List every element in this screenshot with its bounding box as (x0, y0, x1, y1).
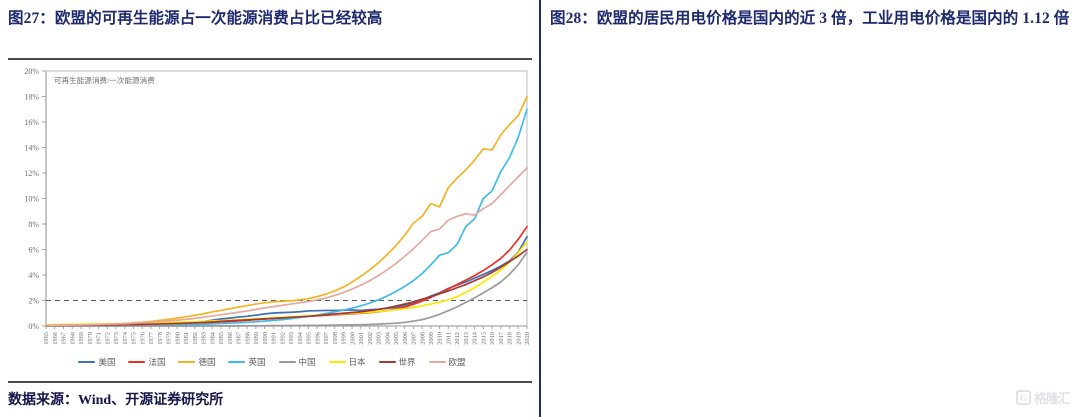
watermark-logo-icon: G (1016, 390, 1031, 405)
svg-text:2019: 2019 (515, 332, 522, 345)
svg-text:4%: 4% (28, 271, 39, 280)
svg-text:1987: 1987 (236, 331, 243, 345)
legend-label: 德国 (198, 356, 215, 368)
legend-label: 美国 (98, 356, 115, 368)
right-figure-title: 图28：欧盟的居民用电价格是国内的近 3 倍，工业用电价格是国内的 1.12 倍 (550, 6, 1072, 31)
svg-text:2%: 2% (28, 297, 39, 306)
svg-text:14%: 14% (24, 144, 39, 153)
svg-text:0%: 0% (28, 322, 39, 331)
legend-label: 欧盟 (449, 356, 466, 368)
svg-text:2015: 2015 (480, 332, 487, 345)
legend-item[interactable]: 世界 (379, 356, 416, 368)
legend-swatch-icon (429, 361, 446, 364)
svg-text:6%: 6% (28, 246, 39, 255)
legend-item[interactable]: 英国 (228, 356, 265, 368)
left-figure-panel: 图27：欧盟的可再生能源占一次能源消费占比已经较高 数据来源：Wind、开源证券… (0, 0, 540, 417)
svg-text:2000: 2000 (349, 332, 356, 345)
svg-text:2018: 2018 (507, 332, 514, 345)
svg-text:1998: 1998 (332, 332, 339, 345)
svg-text:1993: 1993 (288, 332, 295, 345)
svg-text:1997: 1997 (323, 331, 330, 345)
figure-page: 图27：欧盟的可再生能源占一次能源消费占比已经较高 数据来源：Wind、开源证券… (0, 0, 1080, 417)
left-source-note: 数据来源：Wind、开源证券研究所 (8, 389, 223, 409)
watermark: G 格隆汇 (1016, 388, 1070, 407)
svg-text:2005: 2005 (393, 332, 400, 345)
svg-text:2011: 2011 (445, 332, 452, 345)
legend-swatch-icon (178, 361, 195, 364)
legend-swatch-icon (128, 361, 145, 364)
svg-text:16%: 16% (24, 118, 39, 127)
svg-text:可再生能源消费/一次能源消费: 可再生能源消费/一次能源消费 (54, 75, 155, 85)
svg-text:2002: 2002 (367, 332, 374, 345)
svg-text:1980: 1980 (174, 332, 181, 345)
svg-text:12%: 12% (24, 169, 39, 178)
svg-text:2008: 2008 (419, 332, 426, 345)
svg-text:1991: 1991 (271, 332, 278, 345)
svg-text:1994: 1994 (297, 331, 304, 345)
svg-text:18%: 18% (24, 93, 39, 102)
svg-text:1999: 1999 (341, 332, 348, 345)
svg-text:1983: 1983 (201, 332, 208, 345)
left-top-rule (8, 58, 532, 60)
svg-text:2001: 2001 (358, 332, 365, 345)
legend-item[interactable]: 美国 (78, 356, 115, 368)
svg-text:1982: 1982 (192, 332, 199, 345)
svg-text:2003: 2003 (376, 332, 383, 345)
legend-swatch-icon (78, 361, 95, 364)
legend-item[interactable]: 德国 (178, 356, 215, 368)
svg-text:1974: 1974 (122, 331, 129, 345)
svg-text:1970: 1970 (87, 332, 94, 345)
svg-text:1996: 1996 (314, 332, 321, 345)
svg-text:2007: 2007 (411, 331, 418, 345)
legend-item[interactable]: 欧盟 (429, 356, 466, 368)
legend-item[interactable]: 日本 (329, 356, 366, 368)
svg-text:1981: 1981 (183, 332, 190, 345)
svg-text:1966: 1966 (52, 332, 59, 345)
svg-text:1979: 1979 (166, 332, 173, 345)
left-figure-title: 图27：欧盟的可再生能源占一次能源消费占比已经较高 (8, 6, 530, 31)
svg-text:1989: 1989 (253, 332, 260, 345)
svg-text:2013: 2013 (463, 332, 470, 345)
svg-text:1965: 1965 (43, 332, 50, 345)
svg-text:2020: 2020 (524, 332, 531, 345)
svg-text:1995: 1995 (306, 332, 313, 345)
svg-text:1972: 1972 (104, 332, 111, 345)
legend-swatch-icon (279, 361, 296, 364)
left-bottom-rule (8, 381, 532, 383)
svg-text:1978: 1978 (157, 332, 164, 345)
legend-label: 中国 (299, 356, 316, 368)
svg-text:2009: 2009 (428, 332, 435, 345)
svg-text:1975: 1975 (131, 332, 138, 345)
svg-text:1968: 1968 (69, 332, 76, 345)
svg-text:1971: 1971 (96, 332, 103, 345)
right-figure-panel: 图28：欧盟的居民用电价格是国内的近 3 倍，工业用电价格是国内的 1.12 倍… (540, 0, 1080, 417)
legend-label: 世界 (399, 356, 416, 368)
legend-label: 日本 (349, 356, 366, 368)
svg-text:1969: 1969 (78, 332, 85, 345)
svg-text:2016: 2016 (489, 332, 496, 345)
svg-text:2012: 2012 (454, 332, 461, 345)
svg-text:20%: 20% (24, 67, 39, 76)
line-chart-legend: 美国法国德国英国中国日本世界欧盟 (8, 356, 536, 368)
legend-label: 法国 (148, 356, 165, 368)
svg-text:1984: 1984 (209, 331, 216, 345)
svg-text:2004: 2004 (384, 331, 391, 345)
svg-text:2010: 2010 (437, 332, 444, 345)
watermark-text: 格隆汇 (1034, 388, 1070, 407)
renewable-share-line-chart: 0%2%4%6%8%10%12%14%16%18%20%可再生能源消费/一次能源… (8, 62, 536, 378)
svg-text:1977: 1977 (148, 331, 155, 345)
svg-text:1976: 1976 (139, 332, 146, 345)
svg-text:2014: 2014 (472, 331, 479, 345)
legend-swatch-icon (228, 361, 245, 364)
legend-label: 英国 (248, 356, 265, 368)
svg-text:1967: 1967 (61, 331, 68, 345)
svg-text:2006: 2006 (402, 332, 409, 345)
svg-text:1985: 1985 (218, 332, 225, 345)
svg-text:10%: 10% (24, 195, 39, 204)
svg-text:1990: 1990 (262, 332, 269, 345)
svg-text:1973: 1973 (113, 332, 120, 345)
svg-text:8%: 8% (28, 220, 39, 229)
legend-swatch-icon (329, 361, 346, 364)
svg-text:2017: 2017 (498, 331, 505, 345)
svg-text:1988: 1988 (244, 332, 251, 345)
legend-swatch-icon (379, 361, 396, 364)
legend-item[interactable]: 中国 (279, 356, 316, 368)
legend-item[interactable]: 法国 (128, 356, 165, 368)
line-chart-svg: 0%2%4%6%8%10%12%14%16%18%20%可再生能源消费/一次能源… (8, 62, 536, 378)
svg-text:1986: 1986 (227, 332, 234, 345)
svg-text:1992: 1992 (279, 332, 286, 345)
